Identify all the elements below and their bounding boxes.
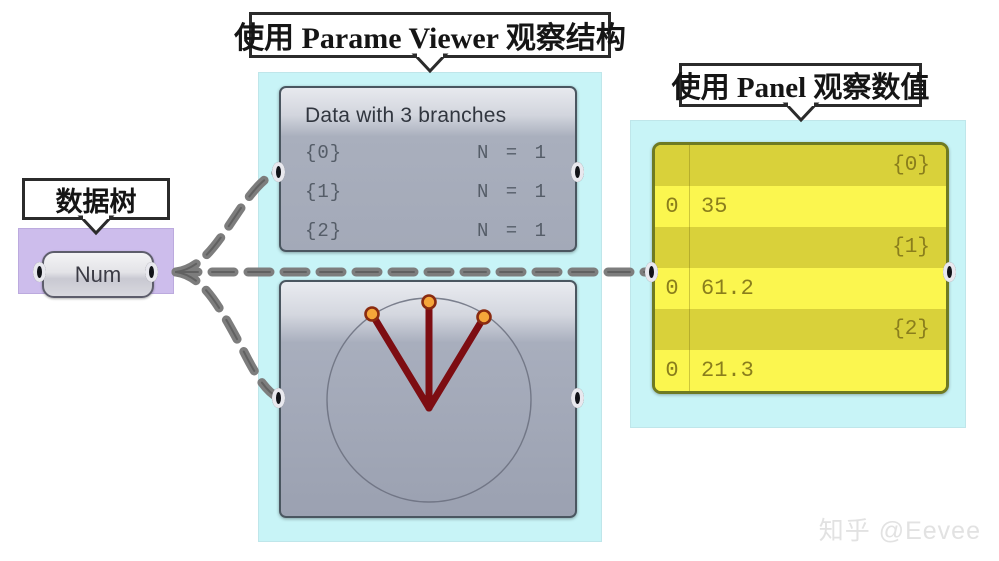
param-viewer-row: {0} N = 1 (305, 138, 553, 168)
branch-count: N = 1 (477, 142, 553, 164)
callout-param-viewer-text: 使用 Parame Viewer 观察结构 (234, 13, 626, 57)
callout-tail-icon (415, 55, 445, 72)
vector-display-component[interactable] (279, 280, 577, 518)
branch-count: N = 1 (477, 181, 553, 203)
panel-column-divider (689, 145, 690, 391)
branch-path: {1} (305, 181, 342, 203)
param-viewer-input-port[interactable] (272, 162, 285, 182)
panel-item-index: 0 (655, 194, 689, 219)
param-viewer-row: {1} N = 1 (305, 177, 553, 207)
vector-display-output-port[interactable] (571, 388, 584, 408)
callout-panel: 使用 Panel 观察数值 (679, 63, 922, 107)
panel-item-value: 21.3 (689, 358, 754, 383)
callout-panel-text: 使用 Panel 观察数值 (672, 64, 930, 106)
panel-branch-header: {0} (655, 145, 946, 186)
param-viewer-row: {2} N = 1 (305, 216, 553, 246)
branch-path: {0} (305, 142, 342, 164)
panel-item-value: 35 (689, 194, 727, 219)
panel-item-index: 0 (655, 276, 689, 301)
panel-branch-header: {1} (655, 227, 946, 268)
param-viewer-component[interactable]: Data with 3 branches {0} N = 1 {1} N = 1… (279, 86, 577, 252)
panel-branch-path: {1} (892, 236, 930, 259)
vector-display-graphic (281, 282, 577, 518)
panel-output-port[interactable] (943, 262, 956, 282)
panel-item-index: 0 (655, 358, 689, 383)
panel-data-row: 0 21.3 (655, 350, 946, 391)
panel-input-port[interactable] (645, 262, 658, 282)
callout-tail-icon (81, 217, 111, 234)
callout-data-tree-text: 数据树 (56, 180, 137, 219)
canvas: Num Data with 3 branches {0} N = 1 {1} N… (0, 0, 999, 561)
branch-count: N = 1 (477, 220, 553, 242)
num-component-label: Num (75, 262, 121, 288)
num-input-port[interactable] (33, 262, 46, 282)
panel-item-value: 61.2 (689, 276, 754, 301)
watermark: 知乎 @Eevee (819, 511, 981, 547)
param-viewer-title: Data with 3 branches (305, 104, 506, 128)
panel-data-row: 0 35 (655, 186, 946, 227)
callout-tail-icon (786, 104, 816, 121)
panel-component[interactable]: {0} 0 35 {1} 0 61.2 {2} 0 21.3 (652, 142, 949, 394)
panel-data-row: 0 61.2 (655, 268, 946, 309)
callout-data-tree: 数据树 (22, 178, 170, 220)
num-component[interactable]: Num (42, 251, 154, 298)
branch-path: {2} (305, 220, 342, 242)
panel-branch-path: {2} (892, 318, 930, 341)
num-output-port[interactable] (145, 262, 158, 282)
panel-branch-header: {2} (655, 309, 946, 350)
vector-display-input-port[interactable] (272, 388, 285, 408)
callout-param-viewer: 使用 Parame Viewer 观察结构 (249, 12, 611, 58)
panel-branch-path: {0} (892, 154, 930, 177)
param-viewer-output-port[interactable] (571, 162, 584, 182)
